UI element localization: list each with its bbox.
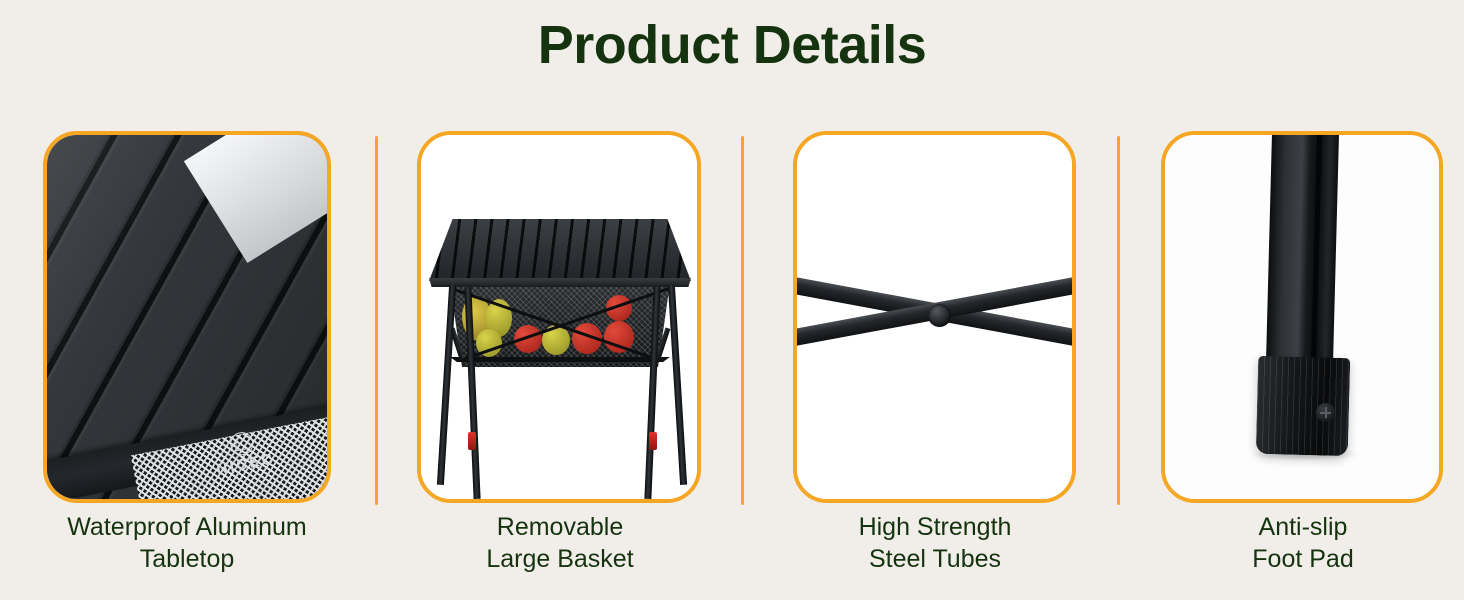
feature-panel-anti-slip-foot-pad[interactable] [1161, 131, 1443, 503]
foot-drop-shadow [1249, 447, 1361, 461]
panel-divider-2 [741, 136, 744, 505]
caption-line-2: Steel Tubes [775, 544, 1095, 576]
feature-panel-high-strength-steel-tubes[interactable] [793, 131, 1076, 503]
anti-slip-rubber-pad [1256, 356, 1351, 456]
basket-bottom-bar [443, 357, 677, 362]
table-top-lip [429, 278, 691, 287]
feature-panel-waterproof-aluminum-tabletop[interactable]: NICEC [43, 131, 331, 503]
nicec-emblem-icon [228, 430, 255, 457]
pivot-bolt-icon [928, 304, 951, 327]
foot-pad-closeup-image [1165, 135, 1439, 499]
table-top-slats [429, 219, 691, 281]
leg-height-clip-right [649, 432, 657, 450]
caption-removable-large-basket: Removable Large Basket [400, 512, 720, 576]
table-leg-tube [1266, 131, 1339, 368]
tabletop-closeup-image: NICEC [47, 135, 327, 499]
panel-divider-1 [375, 136, 378, 505]
caption-anti-slip-foot-pad: Anti-slip Foot Pad [1145, 512, 1461, 576]
caption-high-strength-steel-tubes: High Strength Steel Tubes [775, 512, 1095, 576]
steel-tubes-closeup-image [797, 135, 1072, 499]
caption-line-2: Foot Pad [1145, 544, 1461, 576]
feature-panel-removable-large-basket[interactable] [417, 131, 701, 503]
table-top-surface [429, 219, 691, 281]
caption-waterproof-aluminum-tabletop: Waterproof Aluminum Tabletop [20, 512, 354, 576]
folding-table-image [421, 135, 697, 499]
caption-line-2: Tabletop [20, 544, 354, 576]
product-details-infographic: Product Details NICEC [0, 0, 1464, 600]
caption-line-1: Waterproof Aluminum [20, 512, 354, 544]
leg-height-clip-left [468, 432, 476, 450]
panel-divider-3 [1117, 136, 1120, 505]
foot-pad-screw-icon [1316, 403, 1335, 422]
page-title: Product Details [0, 14, 1464, 76]
caption-line-1: Removable [400, 512, 720, 544]
caption-line-1: High Strength [775, 512, 1095, 544]
table-leg-outer-left [437, 285, 456, 485]
caption-line-2: Large Basket [400, 544, 720, 576]
table-leg-outer-right [668, 285, 687, 485]
caption-line-1: Anti-slip [1145, 512, 1461, 544]
feature-panel-row: NICEC [0, 131, 1464, 506]
